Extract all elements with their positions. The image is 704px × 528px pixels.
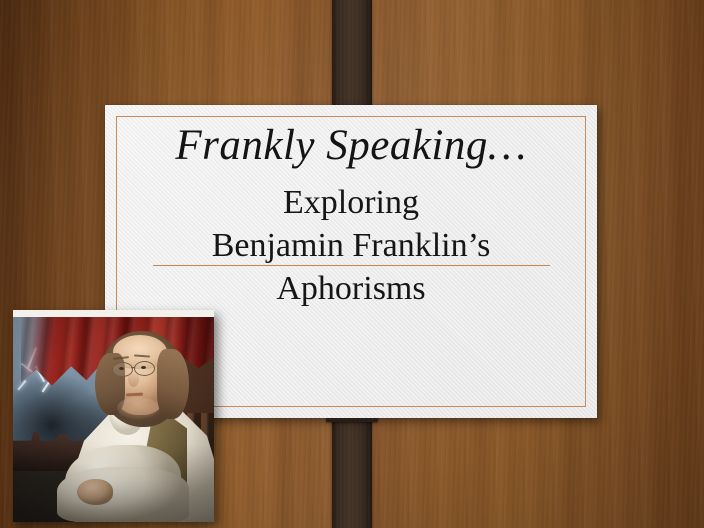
portrait-top-mat — [13, 310, 214, 317]
benjamin-franklin-portrait — [13, 310, 214, 522]
strap-texture — [332, 417, 372, 528]
slide-subtitle-line-1: Exploring — [105, 184, 597, 222]
presentation-slide: Frankly Speaking… Exploring Benjamin Fra… — [0, 0, 704, 528]
slide-title: Frankly Speaking… — [105, 121, 597, 171]
vertical-strap-top — [332, 0, 372, 106]
accent-divider-line — [153, 265, 550, 266]
portrait-image — [13, 317, 214, 522]
strap-texture — [332, 0, 372, 106]
slide-subtitle-line-3: Aphorisms — [105, 270, 597, 308]
slide-subtitle-line-2: Benjamin Franklin’s — [105, 227, 597, 265]
portrait-shading — [13, 317, 214, 522]
vertical-strap-bottom — [332, 417, 372, 528]
